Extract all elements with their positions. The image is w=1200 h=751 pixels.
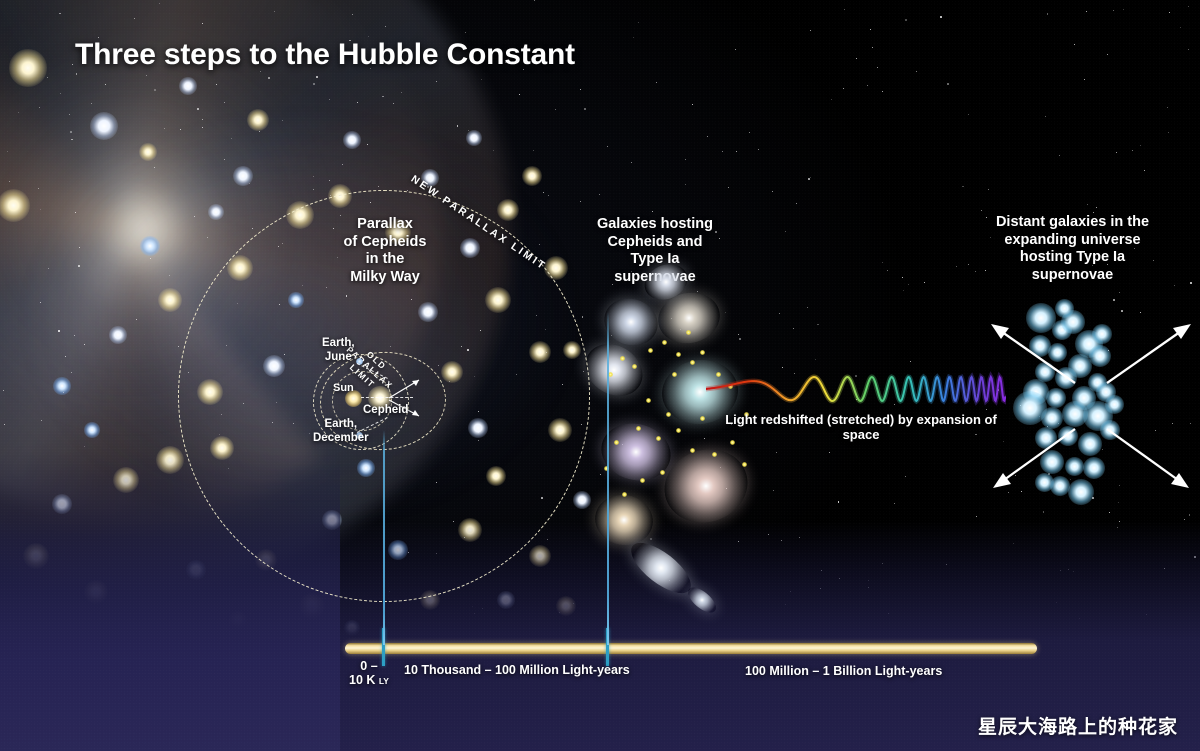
star-dot (378, 186, 379, 187)
step3-caption: Distant galaxies in theexpanding univers… (985, 214, 1160, 285)
star-dot (216, 84, 217, 85)
star-dot (908, 284, 909, 285)
star-dot (58, 330, 60, 332)
star-dot (313, 189, 314, 190)
star-dot (785, 231, 786, 232)
star-dot (7, 151, 8, 152)
star-dot (796, 203, 797, 204)
star-dot (1184, 519, 1185, 520)
scale-left-value: 0 – (360, 659, 377, 673)
star-dot (810, 177, 811, 178)
cepheid-marker (662, 340, 667, 345)
star-dot (877, 67, 878, 68)
redshift-wave-graphic (706, 366, 1006, 412)
star-dot (330, 195, 331, 196)
star-dot (329, 99, 330, 100)
star-dot (207, 237, 208, 238)
star-dot (808, 178, 810, 180)
cepheid-marker (648, 348, 653, 353)
earth-december-label: Earth,December (313, 418, 369, 445)
cepheid-marker (614, 440, 619, 445)
star-dot (224, 159, 225, 160)
star-dot (1180, 27, 1181, 28)
star-dot (69, 114, 70, 115)
cepheid-marker (672, 372, 677, 377)
scale-label-right: 100 Million – 1 Billion Light-years (745, 664, 942, 678)
star-dot (1045, 116, 1046, 117)
star-dot (580, 201, 581, 202)
cepheid-marker (742, 462, 747, 467)
star-dot (40, 302, 41, 303)
star-dot (79, 247, 80, 248)
star-dot (905, 19, 907, 21)
star-dot (357, 102, 358, 103)
star-dot (600, 474, 601, 475)
star-dot (1087, 204, 1088, 205)
star-dot (47, 77, 48, 78)
star-dot (4, 424, 5, 425)
star-dot (1093, 212, 1094, 213)
cepheid-marker (700, 416, 705, 421)
star-dot (18, 112, 19, 113)
expansion-arrows (965, 305, 1200, 505)
star-dot (1059, 155, 1060, 156)
star-dot (136, 319, 137, 320)
parallax-angle-arrows (385, 370, 445, 430)
star-dot (159, 3, 160, 4)
star-dot (844, 9, 845, 10)
star-dot (282, 120, 283, 121)
cepheid-marker (608, 372, 613, 377)
sun-label: Sun (333, 382, 354, 395)
star-dot (584, 108, 586, 110)
cepheid-marker (640, 478, 645, 483)
star-dot (91, 103, 92, 104)
cepheid-marker (636, 426, 641, 431)
page-title: Three steps to the Hubble Constant (75, 38, 575, 72)
star-dot (75, 212, 76, 213)
star-dot (63, 392, 64, 393)
star-dot (894, 503, 895, 504)
star-dot (1190, 282, 1192, 284)
star-dot (493, 150, 494, 151)
star-dot (194, 216, 195, 217)
star-dot (60, 93, 61, 94)
star-dot (910, 361, 911, 362)
star-dot (1144, 170, 1145, 171)
star-dot (268, 77, 270, 79)
star-dot (810, 30, 811, 31)
star-dot (685, 184, 686, 185)
cepheid-marker (660, 470, 665, 475)
cepheid-marker (646, 398, 651, 403)
star-dot (72, 64, 73, 65)
star-dot (274, 11, 275, 12)
star-dot (385, 26, 386, 27)
cepheid-marker (712, 452, 717, 457)
star-dot (154, 89, 156, 91)
earth-june-label: Earth,June (322, 337, 355, 364)
distance-scale-bar (345, 643, 1037, 654)
scale-left-value2: 10 K (349, 673, 375, 687)
star-dot (70, 131, 72, 133)
star-dot (638, 22, 639, 23)
star-dot (968, 114, 969, 115)
step1-caption: Parallaxof Cepheidsin theMilky Way (295, 216, 475, 287)
star-dot (313, 83, 315, 85)
star-dot (773, 490, 774, 491)
cepheid-marker (676, 352, 681, 357)
star-dot (867, 85, 868, 86)
star-dot (368, 36, 369, 37)
star-dot (1096, 207, 1097, 208)
scale-label-middle: 10 Thousand – 100 Million Light-years (404, 663, 630, 677)
star-dot (739, 338, 741, 340)
cepheid-marker (632, 364, 637, 369)
divider-line-step1 (383, 430, 385, 645)
cepheid-marker (666, 412, 671, 417)
star-dot (1123, 9, 1124, 10)
cepheid-marker (690, 360, 695, 365)
star-dot (975, 271, 976, 272)
cepheid-marker (690, 448, 695, 453)
divider-line-step2 (607, 312, 609, 645)
star-dot (1168, 132, 1169, 133)
cepheid-marker (622, 492, 627, 497)
watermark-text: 星辰大海路上的种花家 (978, 712, 1178, 739)
star-dot (316, 76, 318, 78)
star-dot (749, 132, 750, 133)
cepheid-label: Cepheid (363, 404, 408, 418)
star-dot (843, 88, 844, 89)
star-dot (916, 71, 917, 72)
star-dot (1188, 6, 1189, 7)
star-dot (1109, 512, 1110, 513)
star-dot (197, 108, 199, 110)
cepheid-marker (686, 330, 691, 335)
star-dot (829, 452, 830, 453)
star-dot (252, 228, 253, 229)
cepheid-marker (620, 356, 625, 361)
star-dot (758, 149, 759, 150)
star-dot (259, 131, 260, 132)
star-dot (793, 328, 794, 329)
star-dot (738, 334, 739, 335)
star-dot (776, 452, 777, 453)
cepheid-marker (656, 436, 661, 441)
cepheid-marker (700, 350, 705, 355)
star-dot (692, 104, 693, 105)
star-dot (78, 265, 80, 267)
star-dot (134, 18, 135, 19)
star-dot (555, 109, 556, 110)
star-dot (1116, 152, 1117, 153)
star-dot (1084, 79, 1085, 80)
infographic-canvas: Three steps to the Hubble Constant NEW P… (0, 0, 1200, 751)
scale-left-unit: LY (379, 676, 389, 686)
star-dot (436, 81, 437, 82)
star-dot (539, 244, 540, 245)
scale-label-left: 0 – 10 K LY (338, 659, 400, 688)
cepheid-marker (676, 428, 681, 433)
light-wave (706, 366, 1006, 412)
star-dot (367, 144, 368, 145)
star-dot (154, 167, 155, 168)
star-dot (48, 268, 49, 269)
